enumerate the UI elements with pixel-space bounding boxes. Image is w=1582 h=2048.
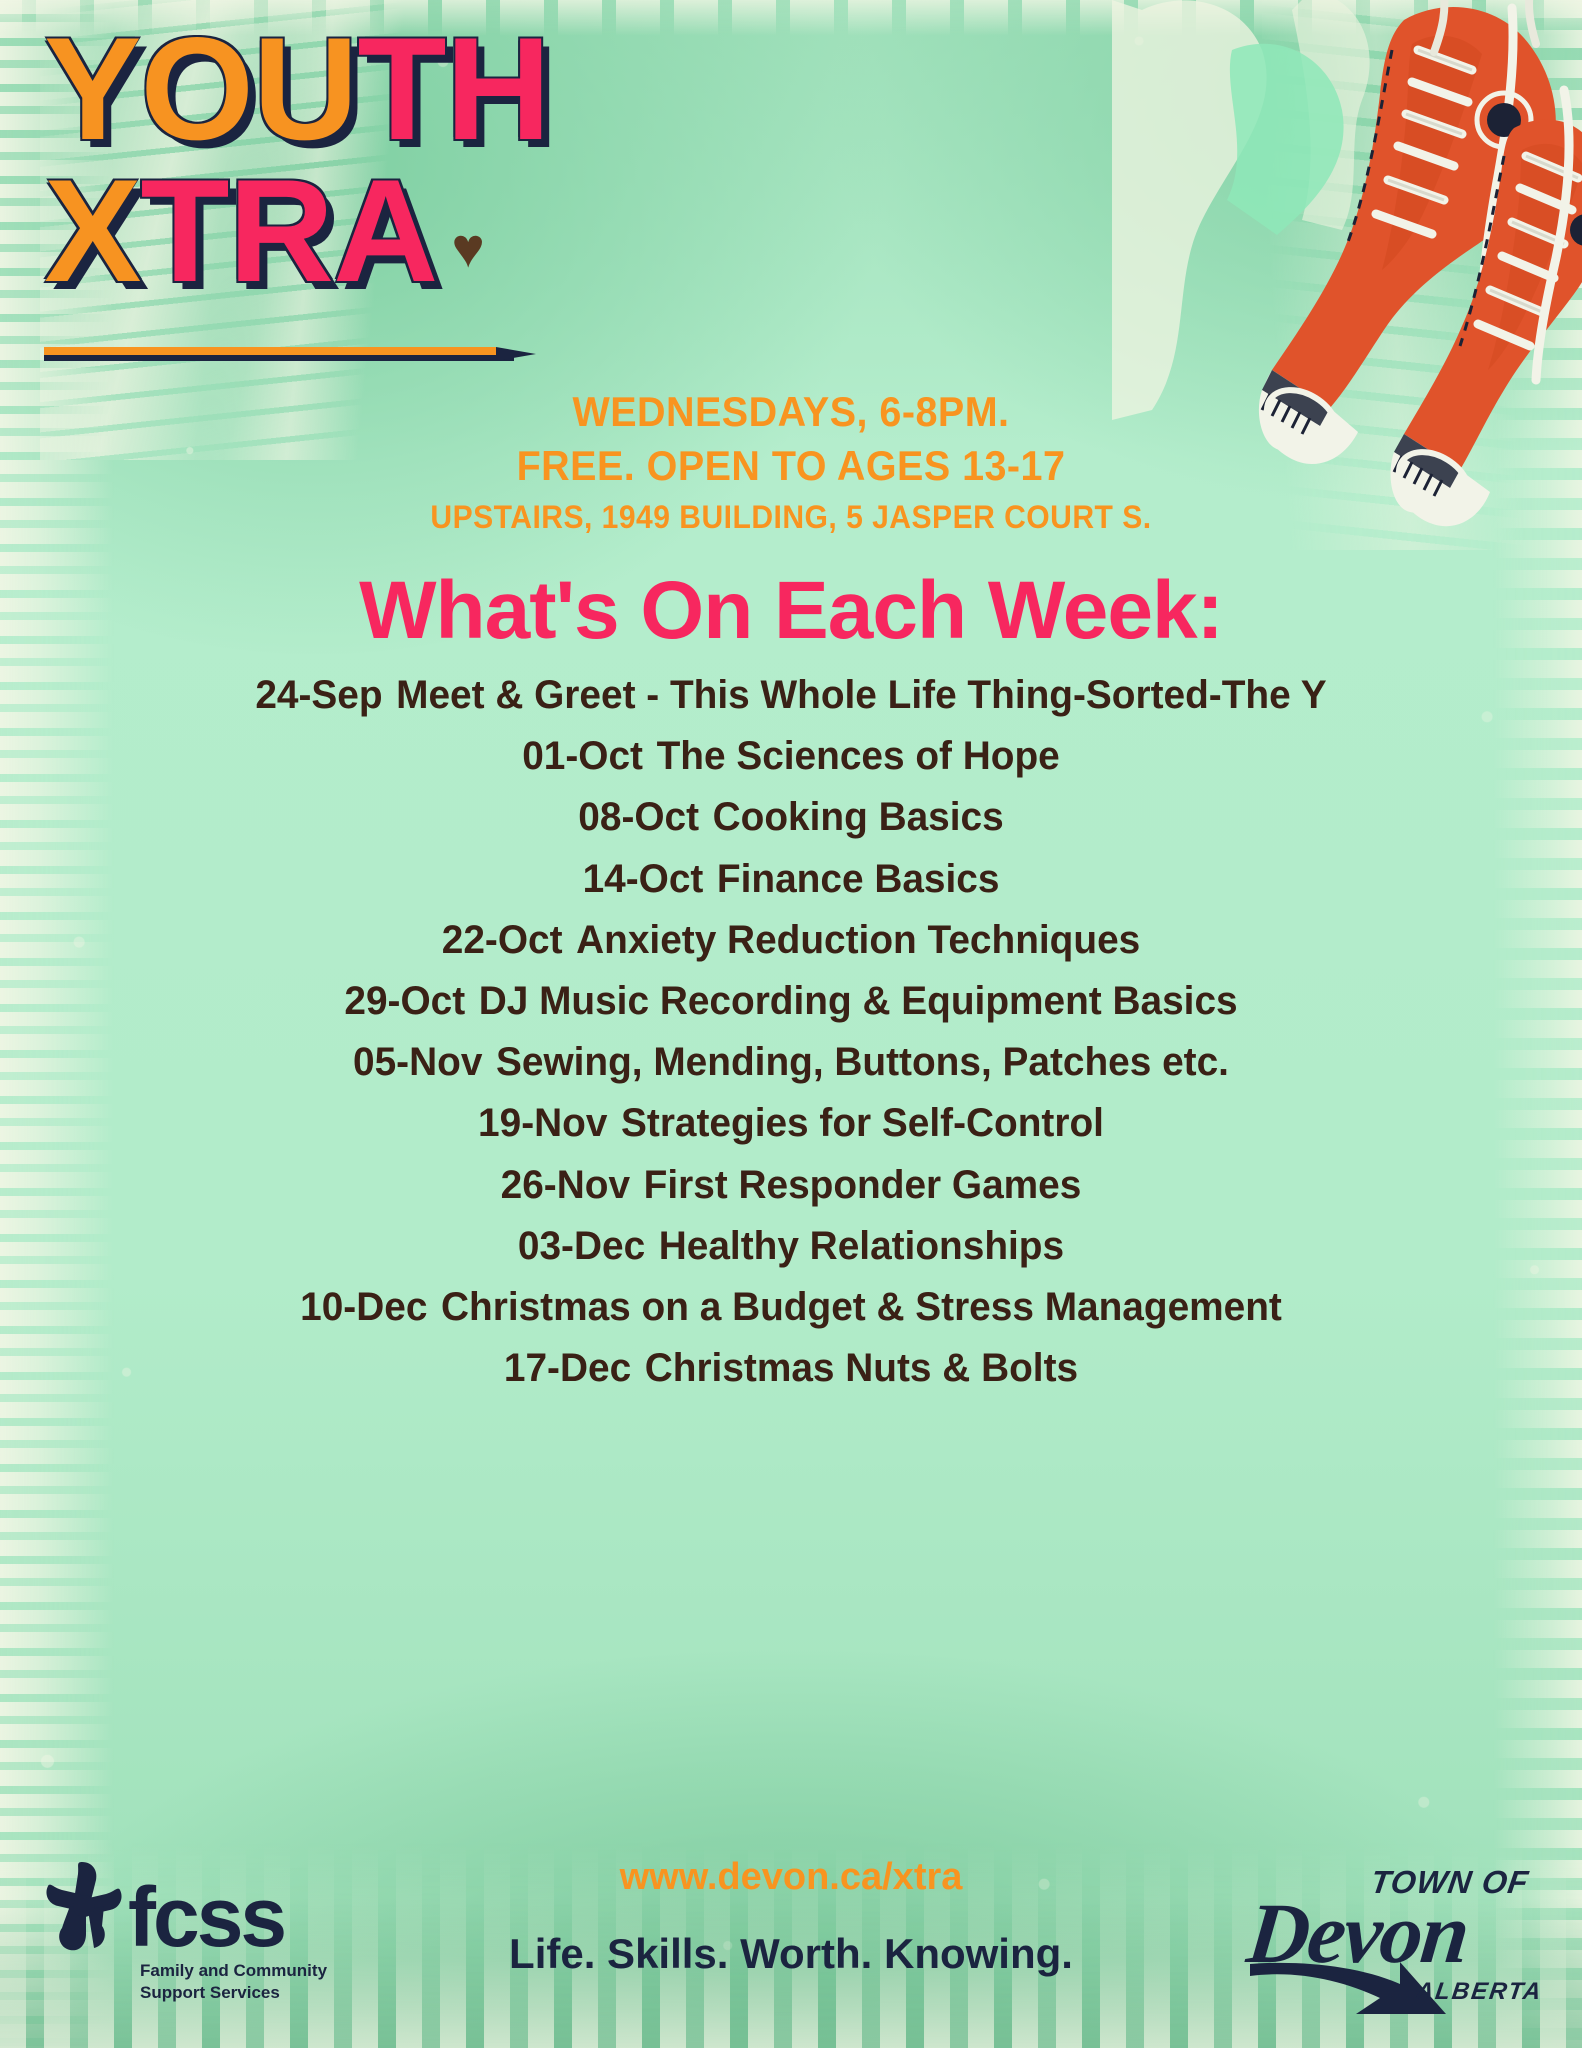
- schedule-topic: Strategies for Self-Control: [621, 1101, 1104, 1145]
- schedule-topic: DJ Music Recording & Equipment Basics: [479, 979, 1238, 1023]
- page-title: What's On Each Week:: [0, 564, 1582, 658]
- schedule-row: 29-OctDJ Music Recording & Equipment Bas…: [24, 971, 1559, 1032]
- schedule-row: 19-NovStrategies for Self-Control: [24, 1093, 1559, 1154]
- fcss-subtitle-line-2: Support Services: [140, 1982, 344, 2004]
- schedule-date: 26-Nov: [501, 1163, 630, 1207]
- heart-icon: ♥: [451, 215, 484, 280]
- schedule-date: 14-Oct: [583, 857, 704, 901]
- schedule-topic: Christmas Nuts & Bolts: [645, 1346, 1078, 1390]
- schedule-date: 24-Sep: [255, 673, 382, 717]
- fcss-logo: fcss Family and Community Support Servic…: [44, 1860, 344, 2004]
- pencil-underline-icon: [44, 342, 544, 364]
- schedule-topic: The Sciences of Hope: [657, 734, 1060, 778]
- fcss-subtitle: Family and Community Support Services: [140, 1960, 344, 2004]
- schedule-row: 17-DecChristmas Nuts & Bolts: [24, 1338, 1559, 1399]
- schedule-date: 08-Oct: [578, 795, 699, 839]
- schedule-row: 26-NovFirst Responder Games: [24, 1155, 1559, 1216]
- schedule-topic: Healthy Relationships: [659, 1224, 1064, 1268]
- title-xtra-x: X: [44, 149, 140, 312]
- poster: YOUTH XTRA♥ WEDNESDAYS, 6-8PM. FREE. OPE…: [0, 0, 1582, 2048]
- fcss-logo-top: fcss: [44, 1860, 344, 1952]
- schedule-row: 03-DecHealthy Relationships: [24, 1216, 1559, 1277]
- schedule-row: 05-NovSewing, Mending, Buttons, Patches …: [24, 1032, 1559, 1093]
- title-youth-you: YOU: [44, 7, 357, 170]
- schedule-row: 10-DecChristmas on a Budget & Stress Man…: [24, 1277, 1559, 1338]
- schedule-date: 22-Oct: [442, 918, 563, 962]
- schedule-topic: First Responder Games: [644, 1163, 1082, 1207]
- schedule-topic: Finance Basics: [717, 857, 1000, 901]
- schedule-topic: Anxiety Reduction Techniques: [576, 918, 1140, 962]
- schedule-topic: Cooking Basics: [713, 795, 1004, 839]
- town-of-devon-logo: TOWN OF Devon ALBERTA: [1248, 1862, 1548, 2032]
- schedule-row: 01-OctThe Sciences of Hope: [24, 726, 1559, 787]
- info-location: UPSTAIRS, 1949 BUILDING, 5 JASPER COURT …: [47, 493, 1534, 543]
- title-xtra-tra: TRA: [140, 149, 437, 312]
- poster-title: YOUTH XTRA♥: [44, 18, 944, 301]
- title-youth-th: TH: [357, 7, 550, 170]
- title-line-2: XTRA♥: [44, 160, 944, 302]
- schedule-row: 22-OctAnxiety Reduction Techniques: [24, 910, 1559, 971]
- title-line-1: YOUTH: [44, 18, 944, 160]
- fcss-subtitle-line-1: Family and Community: [140, 1960, 344, 1982]
- schedule-topic: Christmas on a Budget & Stress Managemen…: [441, 1285, 1282, 1329]
- fcss-wordmark: fcss: [128, 1883, 284, 1952]
- weekly-schedule-list: 24-SepMeet & Greet - This Whole Life Thi…: [0, 665, 1582, 1399]
- schedule-date: 03-Dec: [518, 1224, 645, 1268]
- schedule-date: 17-Dec: [504, 1346, 631, 1390]
- schedule-row: 08-OctCooking Basics: [24, 787, 1559, 848]
- schedule-row: 24-SepMeet & Greet - This Whole Life Thi…: [24, 665, 1559, 726]
- devon-logo-alberta: ALBERTA: [1414, 1978, 1544, 2006]
- schedule-topic: Sewing, Mending, Buttons, Patches etc.: [496, 1040, 1229, 1084]
- schedule-row: 14-OctFinance Basics: [24, 849, 1559, 910]
- schedule-date: 29-Oct: [344, 979, 465, 1023]
- info-schedule-time: WEDNESDAYS, 6-8PM.: [47, 385, 1534, 439]
- fcss-asterisk-icon: [44, 1860, 124, 1952]
- event-info-block: WEDNESDAYS, 6-8PM. FREE. OPEN TO AGES 13…: [0, 385, 1582, 542]
- info-price-ages: FREE. OPEN TO AGES 13-17: [47, 439, 1534, 493]
- schedule-date: 05-Nov: [353, 1040, 482, 1084]
- schedule-date: 19-Nov: [478, 1101, 607, 1145]
- schedule-date: 01-Oct: [522, 734, 643, 778]
- schedule-topic: Meet & Greet - This Whole Life Thing-Sor…: [396, 673, 1327, 717]
- schedule-date: 10-Dec: [300, 1285, 427, 1329]
